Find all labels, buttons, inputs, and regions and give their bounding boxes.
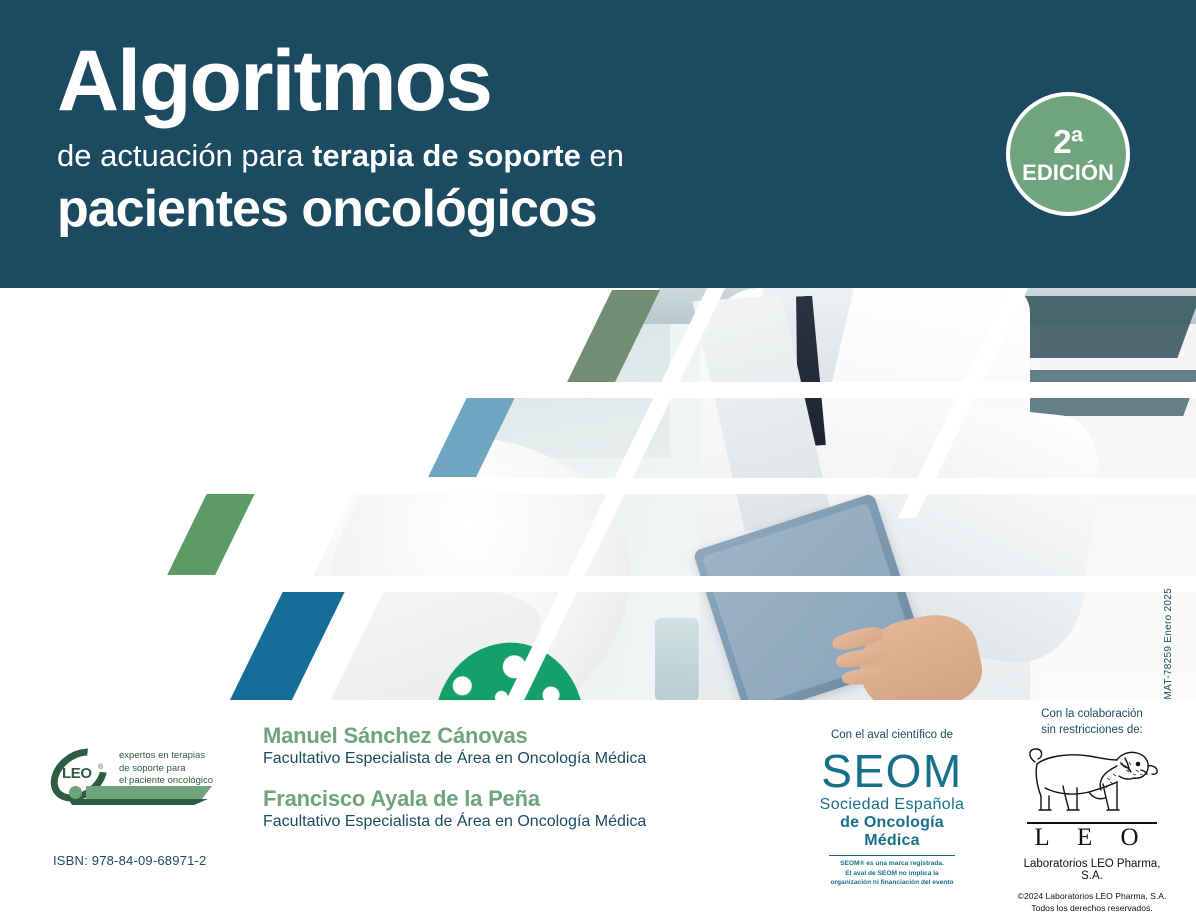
- leo-experts-tagline: expertos en terapias de soporte para el …: [119, 750, 213, 788]
- tagline-line-1: expertos en terapias: [119, 750, 213, 763]
- leo-logo-bar: [86, 786, 212, 799]
- sponsor-lead-line-2: sin restricciones de:: [1012, 723, 1172, 739]
- cover-photo-area: MAT-78259 Enero 2025: [0, 288, 1196, 700]
- authors-list: Manuel Sánchez Cánovas Facultativo Espec…: [263, 723, 646, 849]
- seom-divider: [829, 855, 955, 856]
- registered-mark-icon: ®: [98, 764, 103, 771]
- author-name: Manuel Sánchez Cánovas: [263, 723, 646, 749]
- page-title-third-line: pacientes oncológicos: [57, 182, 757, 237]
- page-subtitle: de actuación para terapia de soporte en: [57, 138, 757, 174]
- author-entry: Francisco Ayala de la Peña Facultativo E…: [263, 786, 646, 832]
- subtitle-suffix: en: [581, 138, 624, 173]
- diagonal-stripe: [0, 478, 1196, 494]
- bedside-bottle: [655, 618, 699, 700]
- leo-experts-logo: LEO ® expertos en terapias de soporte pa…: [48, 748, 228, 810]
- sponsor-company-name: Laboratorios LEO Pharma, S.A.: [1012, 858, 1172, 882]
- mat-code: MAT-78259 Enero 2025: [1163, 588, 1174, 699]
- leo-wordmark: LEO: [62, 765, 92, 782]
- seom-disclaimer-line-1: SEOM® es una marca registrada.: [812, 859, 972, 869]
- seom-logo-wordmark: SEOM: [812, 750, 972, 792]
- sponsor-lead-line-1: Con la colaboración: [1012, 707, 1172, 723]
- seom-endorsement: Con el aval científico de SEOM Sociedad …: [812, 729, 972, 888]
- title-block: Algoritmos de actuación para terapia de …: [57, 38, 757, 236]
- edition-word: EDICIÓN: [1022, 162, 1114, 184]
- leo-pharma-wordmark: L E O: [1012, 825, 1172, 850]
- author-role: Facultativo Especialista de Área en Onco…: [263, 812, 646, 832]
- subtitle-prefix: de actuación para: [57, 138, 312, 173]
- page-title: Algoritmos: [57, 38, 757, 124]
- seom-disclaimer: SEOM® es una marca registrada. El aval d…: [812, 859, 972, 888]
- author-entry: Manuel Sánchez Cánovas Facultativo Espec…: [263, 723, 646, 769]
- seom-logo-line-2: de Oncología Médica: [812, 814, 972, 850]
- leo-logo-underbar: [68, 799, 208, 805]
- cover-header: Algoritmos de actuación para terapia de …: [0, 0, 1196, 288]
- isbn-text: ISBN: 978-84-09-68971-2: [53, 853, 206, 868]
- edition-badge: 2ª EDICIÓN: [1006, 92, 1130, 216]
- tagline-line-2: de soporte para: [119, 763, 213, 776]
- subtitle-bold: terapia de soporte: [312, 138, 581, 173]
- tagline-line-3: el paciente oncológico: [119, 775, 213, 788]
- edition-number: 2ª: [1053, 125, 1083, 158]
- seom-lead-text: Con el aval científico de: [812, 729, 972, 741]
- seom-disclaimer-line-3: organización ni financiación del evento: [812, 878, 972, 888]
- seom-disclaimer-line-2: El aval de SEOM no implica la: [812, 869, 972, 879]
- diagonal-stripe: [0, 576, 1196, 592]
- diagonal-stripe: [0, 382, 1196, 398]
- leo-logo-dot-icon: [69, 786, 82, 799]
- author-name: Francisco Ayala de la Peña: [263, 786, 646, 812]
- diagonal-mask: [0, 288, 660, 384]
- leo-lion-icon: [1017, 744, 1167, 820]
- lion-icon: [1012, 744, 1172, 822]
- author-role: Facultativo Especialista de Área en Onco…: [263, 749, 646, 769]
- sponsor-lead-text: Con la colaboración sin restricciones de…: [1012, 707, 1172, 738]
- copyright-line-2: Todos los derechos reservados.: [1012, 902, 1172, 914]
- sponsor-copyright: ©2024 Laboratorios LEO Pharma, S.A. Todo…: [1012, 890, 1172, 914]
- seom-logo-line-1: Sociedad Española: [812, 796, 972, 814]
- leo-pharma-sponsor: Con la colaboración sin restricciones de…: [1012, 707, 1172, 914]
